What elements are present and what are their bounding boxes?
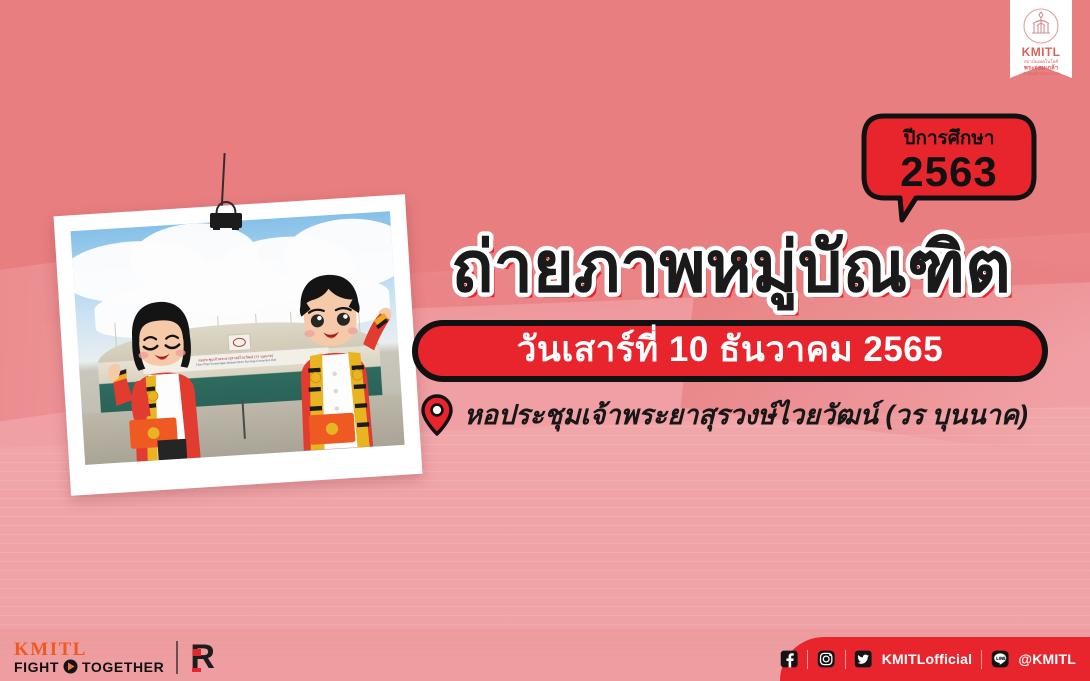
event-date-banner: วันเสาร์ที่ 10 ธันวาคม 2565 [412, 320, 1048, 382]
ribbon-acronym: KMITL [1022, 45, 1061, 59]
speech-bubble-shape: ปีการศึกษา 2563 [858, 112, 1038, 224]
page-title: ถ่ายภาพหมู่บัณฑิต ถ่ายภาพหมู่บัณฑิต ถ่าย… [418, 222, 1058, 318]
social-links-bar: KMITLofficial @KMITL [780, 637, 1090, 681]
instagram-icon[interactable] [817, 648, 835, 670]
footer-together-word: TOGETHER [82, 660, 164, 674]
line-icon[interactable] [991, 648, 1009, 670]
social-separator-3 [981, 650, 982, 669]
event-date-text: วันเสาร์ที่ 10 ธันวาคม 2565 [517, 332, 943, 371]
footer-branding: KMITL FIGHT TOGETHER R [14, 640, 215, 674]
polaroid-photo: หอประชุมเจ้าพระยาสุรวงษ์ไวยวัฒน์ (วร บุน… [54, 194, 423, 496]
r-logo-accent-bottom [192, 668, 201, 672]
facebook-icon[interactable] [780, 648, 798, 670]
binder-clip-icon [205, 200, 247, 230]
kmitl-fight-together-logo: KMITL FIGHT TOGETHER [14, 640, 164, 674]
social-separator-2 [845, 650, 846, 669]
footer-fight-word: FIGHT [14, 660, 59, 674]
r-logo-accent-top [193, 649, 201, 656]
ribbon-thai-line2: พระจอมเกล้า [1024, 64, 1058, 72]
twitter-handle[interactable]: KMITLofficial [882, 651, 972, 667]
event-venue: หอประชุมเจ้าพระยาสุรวงษ์ไวยวัฒน์ (วร บุน… [420, 392, 1028, 438]
headline-svg: ถ่ายภาพหมู่บัณฑิต ถ่ายภาพหมู่บัณฑิต ถ่าย… [418, 222, 1058, 318]
graduate-male-illustration [259, 262, 405, 453]
r-logo: R [190, 640, 215, 674]
photo-image: หอประชุมเจ้าพระยาสุรวงษ์ไวยวัฒน์ (วร บุน… [71, 211, 405, 465]
footer-fight-together: FIGHT TOGETHER [14, 659, 164, 674]
footer-kmitl-word: KMITL [14, 640, 164, 659]
ribbon-thai-line3: เจ้าคุณทหารลาดกระบัง [1022, 71, 1061, 77]
poster-canvas: KMITL สถาบันเทคโนโลยี พระจอมเกล้า เจ้าคุ… [0, 0, 1090, 681]
twitter-icon[interactable] [854, 648, 872, 670]
social-separator-1 [807, 650, 808, 669]
map-pin-icon [420, 393, 454, 437]
kmitl-ribbon-icon: KMITL สถาบันเทคโนโลยี พระจอมเกล้า เจ้าคุ… [1010, 0, 1072, 88]
play-triangle-icon [63, 659, 78, 674]
venue-text: หอประชุมเจ้าพระยาสุรวงษ์ไวยวัฒน์ (วร บุน… [464, 402, 1028, 429]
line-handle[interactable]: @KMITL [1018, 651, 1076, 667]
bubble-year: 2563 [900, 148, 997, 195]
footer-divider [176, 641, 178, 674]
ribbon-thai-line1: สถาบันเทคโนโลยี [1024, 58, 1058, 64]
kmitl-ribbon-logo: KMITL สถาบันเทคโนโลยี พระจอมเกล้า เจ้าคุ… [1010, 0, 1072, 88]
headline-fill: ถ่ายภาพหมู่บัณฑิต [451, 228, 1011, 311]
bubble-label: ปีการศึกษา [903, 127, 995, 149]
graduate-female-illustration [94, 287, 239, 464]
academic-year-bubble: ปีการศึกษา 2563 [858, 112, 1038, 224]
